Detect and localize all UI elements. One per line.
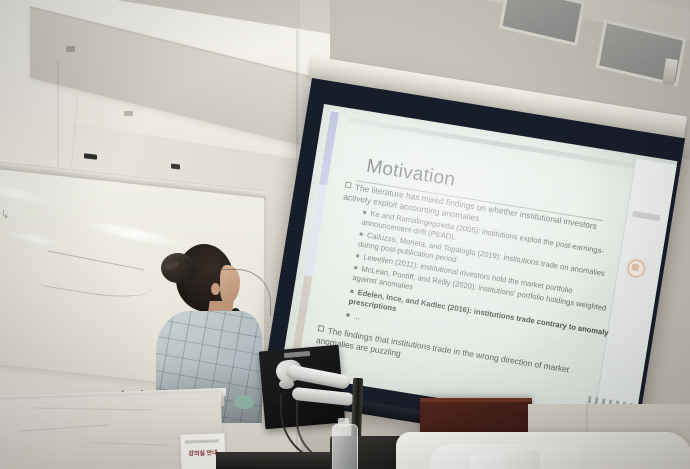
monitor-arm-joint-cap xyxy=(279,379,294,389)
bullet-square-icon xyxy=(354,266,358,270)
whiteboard-marker-scribble: г↳ xyxy=(0,206,10,222)
bullet-square-icon xyxy=(359,232,363,236)
floating-action-icon xyxy=(631,263,639,271)
bullet-square-icon xyxy=(346,313,350,317)
scrollbar-thumb[interactable] xyxy=(319,111,339,185)
wall-fixture-icon xyxy=(124,111,133,116)
bullet-square-icon xyxy=(363,210,367,214)
marble-vein xyxy=(20,424,110,431)
bullet-square-icon xyxy=(356,254,360,258)
presenter-ear xyxy=(211,283,220,295)
bullet-square-outline-icon xyxy=(318,325,325,332)
wood-cabinet-edge xyxy=(420,398,532,402)
bullet-square-outline-icon xyxy=(345,181,352,188)
scrollbar-thumb-secondary[interactable] xyxy=(304,184,327,276)
marble-vein xyxy=(33,407,153,410)
marble-vein xyxy=(90,442,166,446)
bullet-square-icon xyxy=(350,289,354,293)
white-cloth-fold xyxy=(470,450,540,469)
water-bottle-cap xyxy=(338,418,349,427)
glare-reflection xyxy=(4,229,66,249)
presenter-hand xyxy=(234,395,254,409)
glare-reflection xyxy=(0,182,50,205)
water-bottle xyxy=(332,424,358,469)
wall-seam xyxy=(57,60,59,180)
whiteboard-clip-icon xyxy=(171,164,180,170)
lecture-room-photo: г↳ Motivation The literature has mixed f… xyxy=(0,0,690,469)
wall-fixture-icon xyxy=(66,46,75,52)
